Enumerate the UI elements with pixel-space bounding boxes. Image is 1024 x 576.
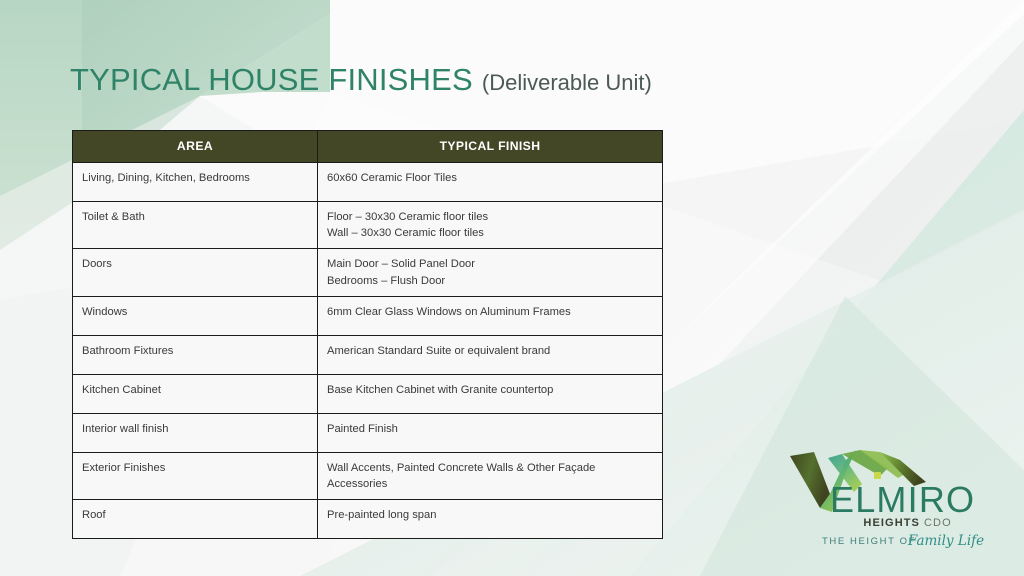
finish-line: Painted Finish [327,421,654,437]
logo-tagline-caps: THE HEIGHT OF [822,536,916,547]
table-row: Bathroom Fixtures American Standard Suit… [73,335,663,374]
finish-line: Pre-painted long span [327,507,654,523]
cell-finish: 60x60 Ceramic Floor Tiles [318,163,663,202]
finish-line: 6mm Clear Glass Windows on Aluminum Fram… [327,304,654,320]
page-title-main: TYPICAL HOUSE FINISHES [70,62,473,98]
logo-subtitle-heights: HEIGHTS [863,517,920,529]
page-title-subtitle: (Deliverable Unit) [482,70,652,96]
finish-line: Bedrooms – Flush Door [327,273,654,289]
cell-area: Bathroom Fixtures [73,335,318,374]
cell-finish: Wall Accents, Painted Concrete Walls & O… [318,452,663,499]
logo-subtitle-cdo: CDO [924,517,952,529]
finish-line: Wall Accents, Painted Concrete Walls & O… [327,460,654,476]
finish-line: Wall – 30x30 Ceramic floor tiles [327,225,654,241]
table-header: AREA TYPICAL FINISH [73,131,663,163]
table-row: Interior wall finish Painted Finish [73,413,663,452]
table-row: Roof Pre-painted long span [73,500,663,539]
column-header-typical-finish: TYPICAL FINISH [318,131,663,163]
cell-finish: Pre-painted long span [318,500,663,539]
cell-finish: Painted Finish [318,413,663,452]
finish-line: Base Kitchen Cabinet with Granite counte… [327,382,654,398]
cell-finish: American Standard Suite or equivalent br… [318,335,663,374]
cell-finish: 6mm Clear Glass Windows on Aluminum Fram… [318,296,663,335]
logo-ribbon-left-icon [790,452,830,508]
page-title: TYPICAL HOUSE FINISHES (Deliverable Unit… [70,62,652,98]
cell-area: Interior wall finish [73,413,318,452]
cell-area: Exterior Finishes [73,452,318,499]
slide-canvas: TYPICAL HOUSE FINISHES (Deliverable Unit… [0,0,1024,576]
cell-area: Roof [73,500,318,539]
table-row: Living, Dining, Kitchen, Bedrooms 60x60 … [73,163,663,202]
velmiro-heights-logo: ELMIRO HEIGHTS CDO THE HEIGHT OF Family … [784,438,1010,550]
table-row: Doors Main Door – Solid Panel Door Bedro… [73,249,663,296]
logo-window-accent-icon [874,472,881,479]
table-row: Toilet & Bath Floor – 30x30 Ceramic floo… [73,202,663,249]
cell-area: Living, Dining, Kitchen, Bedrooms [73,163,318,202]
background-sage-left [0,0,82,250]
cell-finish: Floor – 30x30 Ceramic floor tiles Wall –… [318,202,663,249]
finish-line: American Standard Suite or equivalent br… [327,343,654,359]
table-row: Windows 6mm Clear Glass Windows on Alumi… [73,296,663,335]
finish-line: Floor – 30x30 Ceramic floor tiles [327,209,654,225]
column-header-area: AREA [73,131,318,163]
cell-finish: Main Door – Solid Panel Door Bedrooms – … [318,249,663,296]
table-header-row: AREA TYPICAL FINISH [73,131,663,163]
cell-area: Kitchen Cabinet [73,374,318,413]
cell-area: Toilet & Bath [73,202,318,249]
finish-line: Accessories [327,476,654,492]
cell-finish: Base Kitchen Cabinet with Granite counte… [318,374,663,413]
cell-area: Windows [73,296,318,335]
table-row: Exterior Finishes Wall Accents, Painted … [73,452,663,499]
table-body: Living, Dining, Kitchen, Bedrooms 60x60 … [73,163,663,539]
finish-line: 60x60 Ceramic Floor Tiles [327,170,654,186]
logo-brand-text: ELMIRO [830,479,975,520]
finish-line: Main Door – Solid Panel Door [327,256,654,272]
cell-area: Doors [73,249,318,296]
table-row: Kitchen Cabinet Base Kitchen Cabinet wit… [73,374,663,413]
typical-house-finishes-table: AREA TYPICAL FINISH Living, Dining, Kitc… [72,130,663,539]
logo-tagline-script: Family Life [907,533,984,549]
